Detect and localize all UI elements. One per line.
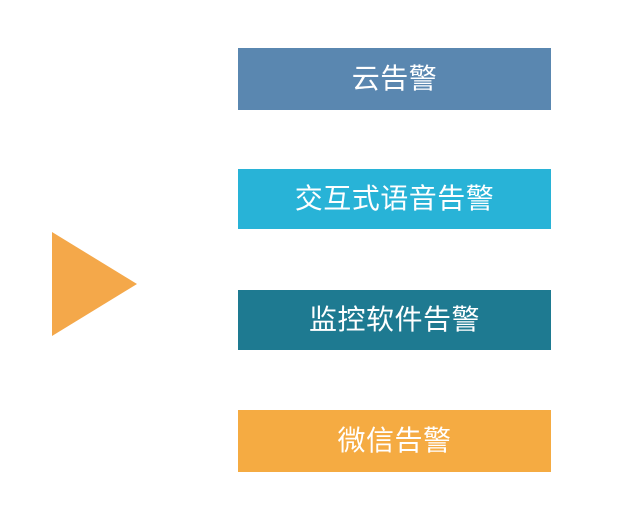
diagram-canvas: 云告警 交互式语音告警 监控软件告警 微信告警 <box>0 0 643 528</box>
process-bar-1-label: 云告警 <box>352 65 438 93</box>
process-bar-2-label: 交互式语音告警 <box>295 185 495 213</box>
triangle-right-icon <box>52 232 137 336</box>
process-bar-3[interactable]: 监控软件告警 <box>238 290 551 350</box>
process-bar-2[interactable]: 交互式语音告警 <box>238 169 551 229</box>
arrow-marker <box>52 232 137 336</box>
process-bar-4-label: 微信告警 <box>337 427 451 455</box>
process-bar-4[interactable]: 微信告警 <box>238 410 551 472</box>
process-bar-3-label: 监控软件告警 <box>309 306 480 334</box>
process-bar-1[interactable]: 云告警 <box>238 48 551 110</box>
